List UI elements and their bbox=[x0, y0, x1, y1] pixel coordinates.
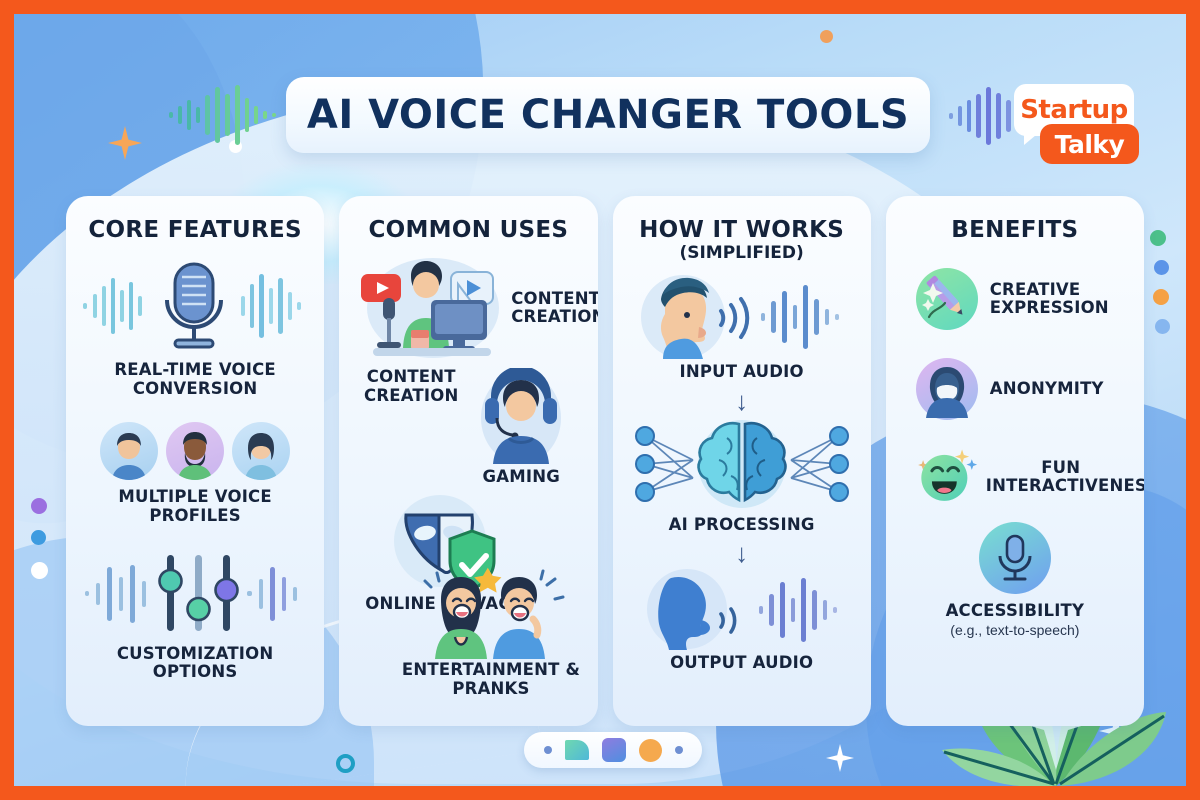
item-label: INPUT AUDIO bbox=[680, 363, 804, 381]
logo-talky-box: Talky bbox=[1040, 124, 1139, 164]
speaking-head-waveform-icon bbox=[639, 275, 845, 359]
page-title: AI VOICE CHANGER TOOLS bbox=[307, 92, 909, 138]
flow-arrow-down-2: ↓ bbox=[735, 540, 748, 566]
item-label: AI PROCESSING bbox=[669, 516, 815, 534]
item-label: OUTPUT AUDIO bbox=[670, 654, 813, 672]
right-dot-blue bbox=[1154, 260, 1169, 275]
item-label: MULTIPLE VOICE PROFILES bbox=[95, 488, 295, 525]
logo-text-talky: Talky bbox=[1055, 130, 1125, 159]
avatar bbox=[100, 422, 158, 480]
white-sparkle-icon bbox=[826, 744, 854, 772]
microphone-waveform-icon bbox=[81, 258, 309, 353]
flow-arrow-down: ↓ bbox=[735, 388, 748, 414]
infographic-canvas: AI VOICE CHANGER TOOLS Startup Talky COR… bbox=[14, 14, 1186, 786]
hooded-figure-icon bbox=[916, 358, 978, 420]
item-sublabel: (e.g., text-to-speech) bbox=[950, 622, 1079, 638]
gamer-headset-icon bbox=[475, 368, 567, 464]
right-dot-lightblue bbox=[1155, 319, 1170, 334]
column-title: COMMON USES bbox=[368, 218, 568, 242]
footer-shape-dot-1 bbox=[544, 746, 552, 754]
laughing-people-icon bbox=[415, 565, 567, 659]
column-title: HOW IT WORKS bbox=[639, 218, 844, 242]
footer-shape-green-wedge bbox=[565, 740, 589, 760]
item-label: CONTENT CREATION bbox=[511, 290, 597, 327]
item-label: GAMING bbox=[483, 468, 560, 486]
startuptalky-logo[interactable]: Startup Talky bbox=[1014, 84, 1139, 172]
column-common-uses: COMMON USES bbox=[339, 196, 597, 726]
orange-sparkle-icon bbox=[108, 126, 142, 160]
footer-shape-dot-2 bbox=[675, 746, 683, 754]
streamer-desk-icon bbox=[355, 252, 505, 364]
footer-shape-orange-circle bbox=[639, 739, 662, 762]
item-label: ENTERTAINMENT & PRANKS bbox=[399, 661, 584, 698]
decor-dot-orange bbox=[820, 30, 833, 43]
right-dot-orange bbox=[1153, 289, 1169, 305]
output-head-waveform-icon bbox=[639, 568, 845, 650]
column-how-it-works: HOW IT WORKS (SIMPLIFIED) bbox=[613, 196, 871, 726]
item-label: ANONYMITY bbox=[990, 380, 1104, 398]
smiley-face-icon bbox=[916, 446, 978, 508]
equalizer-sliders-icon bbox=[83, 547, 308, 639]
item-label: ACCESSIBILITY bbox=[946, 602, 1085, 620]
item-label: CREATIVE EXPRESSION bbox=[990, 281, 1120, 318]
avatar bbox=[166, 422, 224, 480]
column-title: BENEFITS bbox=[951, 218, 1078, 242]
microphone-circle-icon bbox=[979, 522, 1051, 594]
item-label: REAL-TIME VOICE CONVERSION bbox=[100, 361, 290, 398]
page-title-pill: AI VOICE CHANGER TOOLS bbox=[286, 77, 930, 153]
brain-neural-network-icon bbox=[631, 416, 853, 512]
item-label: FUN INTERACTIVENESS bbox=[986, 459, 1136, 496]
waveform-left-icon bbox=[169, 82, 279, 148]
right-dot-green bbox=[1150, 230, 1166, 246]
three-avatars-icon bbox=[100, 422, 290, 480]
item-label: CUSTOMIZATION OPTIONS bbox=[95, 645, 295, 682]
logo-text-startup: Startup bbox=[1020, 95, 1128, 125]
column-subtitle: (SIMPLIFIED) bbox=[679, 243, 803, 263]
item-label: CONTENT CREATION bbox=[357, 368, 465, 405]
avatar bbox=[232, 422, 290, 480]
decor-ring-teal bbox=[336, 754, 355, 773]
left-dot-white bbox=[31, 562, 48, 579]
column-title: CORE FEATURES bbox=[88, 218, 302, 242]
footer-decoration-pill bbox=[524, 732, 702, 768]
left-dot-blue bbox=[31, 530, 46, 545]
left-dot-purple bbox=[31, 498, 47, 514]
column-core-features: CORE FEATURES bbox=[66, 196, 324, 726]
columns-container: CORE FEATURES bbox=[66, 196, 1144, 726]
column-benefits: BENEFITS bbox=[886, 196, 1144, 726]
footer-shape-purple-square bbox=[602, 738, 626, 762]
pencil-sparkle-icon bbox=[916, 268, 978, 330]
waveform-right-icon bbox=[949, 84, 1021, 148]
